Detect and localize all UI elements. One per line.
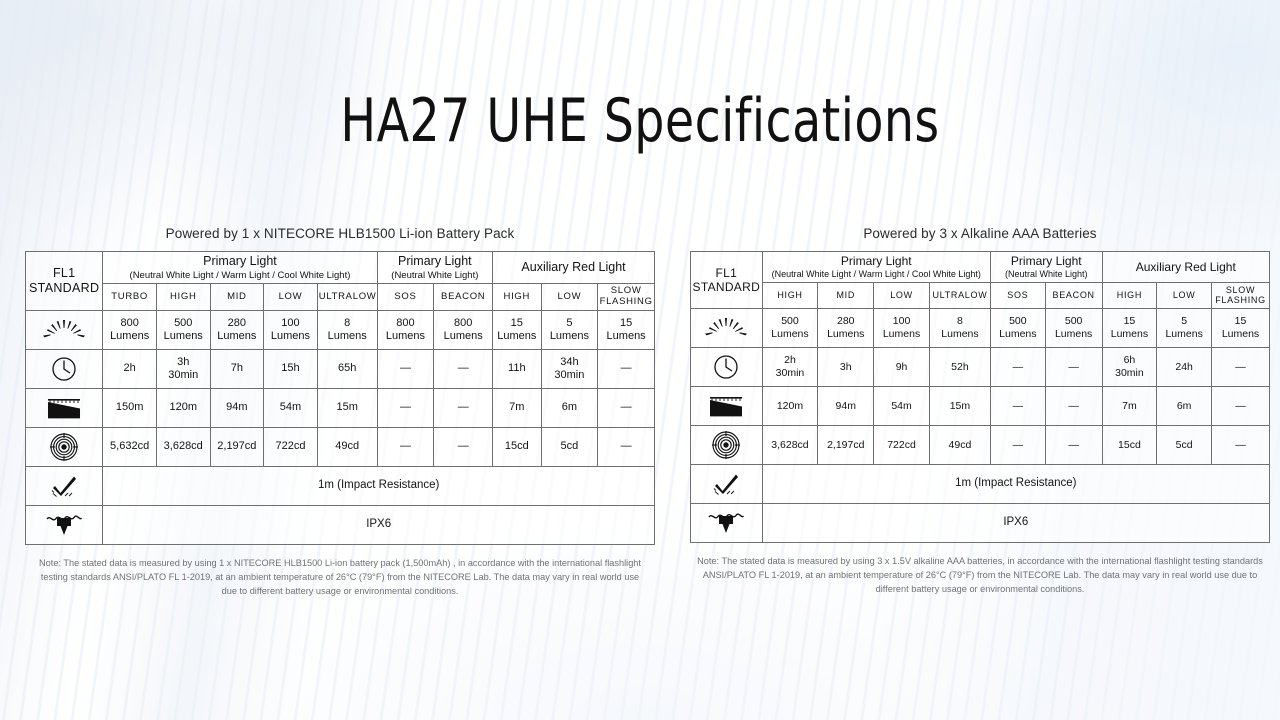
cell-value: — xyxy=(377,388,434,427)
fl1-standard-line2: STANDARD xyxy=(693,280,761,294)
value-text: — xyxy=(621,362,632,374)
cell-value: 5cd xyxy=(541,427,598,466)
table-row-brightness: 500Lumens 280Lumens 100Lumens 8Lumens 50… xyxy=(691,308,1270,347)
table-row-runtime: 2h30min 3h 9h 52h — — 6h30min 24h — xyxy=(691,347,1270,386)
value-text: 49cd xyxy=(335,440,359,452)
value-text: 2,197cd xyxy=(827,439,864,451)
value-text: 49cd xyxy=(949,439,972,451)
cell-value: — xyxy=(1212,347,1270,386)
group-header-aux-red: Auxiliary Red Light xyxy=(1102,252,1269,283)
cell-value: 94m xyxy=(210,388,264,427)
cell-value: 3,628cd xyxy=(156,427,210,466)
table-row-brightness: 800Lumens 500Lumens 280Lumens 100Lumens … xyxy=(26,310,655,349)
cell-value: 54m xyxy=(264,388,318,427)
value-text: 54m xyxy=(280,401,301,413)
cell-value: 94m xyxy=(818,386,874,425)
value-text: 15m xyxy=(336,401,357,413)
cell-value: — xyxy=(1045,347,1102,386)
cell-value: — xyxy=(598,349,655,388)
value-text: 5cd xyxy=(1176,439,1193,451)
value-text: 15Lumens xyxy=(1222,315,1259,339)
value-text: 800Lumens xyxy=(386,317,425,342)
value-text: 800Lumens xyxy=(110,317,149,342)
value-text: 15cd xyxy=(505,440,529,452)
cell-value: 3h30min xyxy=(156,349,210,388)
cell-value: 15cd xyxy=(1102,425,1157,464)
cell-value: — xyxy=(377,349,434,388)
water-resistance-value: IPX6 xyxy=(762,503,1269,542)
cell-value: 15m xyxy=(317,388,377,427)
table-row-impact-resistance: 1m (Impact Resistance) xyxy=(26,466,655,505)
value-text: 24h xyxy=(1175,361,1193,373)
mode-header-low: LOW xyxy=(264,283,318,310)
value-text: 2h30min xyxy=(776,354,805,378)
value-text: 500Lumens xyxy=(1055,315,1092,339)
value-text: 2,197cd xyxy=(217,440,256,452)
cell-value: 722cd xyxy=(874,425,930,464)
cell-value: 3h xyxy=(818,347,874,386)
group-title: Primary Light xyxy=(841,254,912,268)
value-text: 6m xyxy=(1177,400,1192,412)
cell-value: 500Lumens xyxy=(990,308,1045,347)
group-subtitle: (Neutral White Light) xyxy=(379,270,491,281)
cell-value: 100Lumens xyxy=(874,308,930,347)
value-text: 7h xyxy=(231,362,243,374)
cell-value: 15cd xyxy=(493,427,541,466)
value-text: 94m xyxy=(836,400,856,412)
cell-value: 49cd xyxy=(317,427,377,466)
value-text: 3,628cd xyxy=(164,440,203,452)
value-text: — xyxy=(400,440,411,452)
value-text: 150m xyxy=(116,401,144,413)
cell-value: 6h30min xyxy=(1102,347,1157,386)
value-text: 7m xyxy=(1122,400,1137,412)
cell-value: 5cd xyxy=(1157,425,1212,464)
value-text: — xyxy=(1013,439,1024,451)
mode-header-red-high: HIGH xyxy=(493,283,541,310)
mode-header-high: HIGH xyxy=(762,282,818,308)
cell-value: 150m xyxy=(103,388,157,427)
cell-value: 15Lumens xyxy=(1212,308,1270,347)
cell-value: 7m xyxy=(493,388,541,427)
mode-header-slow-flashing: SLOWFLASHING xyxy=(1212,282,1270,308)
value-text: 280Lumens xyxy=(827,315,864,339)
value-text: 100Lumens xyxy=(883,315,920,339)
mode-header-ultralow: ULTRALOW xyxy=(929,282,990,308)
mode-header-red-low: LOW xyxy=(541,283,598,310)
value-text: 65h xyxy=(338,362,356,374)
water-resistance-value: IPX6 xyxy=(103,505,655,544)
cell-value: 722cd xyxy=(264,427,318,466)
table-row-water-resistance: IPX6 xyxy=(691,503,1270,542)
value-text: — xyxy=(400,362,411,374)
value-text: 120m xyxy=(169,401,197,413)
cell-value: 15h xyxy=(264,349,318,388)
cell-value: 280Lumens xyxy=(210,310,264,349)
value-text: — xyxy=(1068,400,1079,412)
runtime-clock-icon xyxy=(691,347,763,386)
value-text: 722cd xyxy=(887,439,916,451)
cell-value: 2h xyxy=(103,349,157,388)
cell-value: 15Lumens xyxy=(493,310,541,349)
cell-value: 7m xyxy=(1102,386,1157,425)
cell-value: 49cd xyxy=(929,425,990,464)
table-header-mode-row: HIGH MID LOW ULTRALOW SOS BEACON HIGH LO… xyxy=(691,282,1270,308)
cell-value: 500Lumens xyxy=(762,308,818,347)
cell-value: 100Lumens xyxy=(264,310,318,349)
cell-value: — xyxy=(1212,386,1270,425)
value-text: 3h30min xyxy=(168,356,198,381)
mode-header-beacon: BEACON xyxy=(1045,282,1102,308)
fl1-standard-header: FL1 STANDARD xyxy=(691,252,763,309)
cell-value: — xyxy=(434,427,493,466)
value-text: 15m xyxy=(950,400,970,412)
value-text: — xyxy=(1068,439,1079,451)
value-text: 6h30min xyxy=(1115,354,1144,378)
group-title: Primary Light xyxy=(1011,254,1082,268)
mode-header-mid: MID xyxy=(210,283,264,310)
value-text: 722cd xyxy=(275,440,305,452)
value-text: 15Lumens xyxy=(1111,315,1148,339)
impact-resistance-icon xyxy=(26,466,103,505)
value-text: 800Lumens xyxy=(444,317,483,342)
cell-value: 500Lumens xyxy=(156,310,210,349)
value-text: 15Lumens xyxy=(607,317,646,342)
value-text: 3h xyxy=(840,361,852,373)
value-text: — xyxy=(621,440,632,452)
mode-header-low: LOW xyxy=(874,282,930,308)
cell-value: 8Lumens xyxy=(929,308,990,347)
peak-beam-intensity-icon xyxy=(26,427,103,466)
fl1-standard-line1: FL1 xyxy=(716,266,738,280)
beam-distance-icon xyxy=(26,388,103,427)
cell-value: 24h xyxy=(1157,347,1212,386)
panel-caption: Powered by 1 x NITECORE HLB1500 Li-ion B… xyxy=(25,226,655,241)
cell-value: — xyxy=(434,349,493,388)
value-text: 500Lumens xyxy=(999,315,1036,339)
value-text: 54m xyxy=(891,400,911,412)
value-text: — xyxy=(458,401,469,413)
mode-header-high: HIGH xyxy=(156,283,210,310)
table-note: Note: The stated data is measured by usi… xyxy=(690,554,1270,597)
peak-beam-intensity-icon xyxy=(691,425,763,464)
value-text: 280Lumens xyxy=(217,317,256,342)
cell-value: 280Lumens xyxy=(818,308,874,347)
fl1-standard-line2: STANDARD xyxy=(29,281,99,295)
group-header-primary-multi: Primary Light (Neutral White Light / War… xyxy=(762,252,990,283)
table-row-water-resistance: IPX6 xyxy=(26,505,655,544)
value-text: 5,632cd xyxy=(110,440,149,452)
cell-value: 3,628cd xyxy=(762,425,818,464)
brightness-icon xyxy=(26,310,103,349)
value-text: 500Lumens xyxy=(164,317,203,342)
cell-value: 2,197cd xyxy=(818,425,874,464)
spec-panel-alkaline: Powered by 3 x Alkaline AAA Batteries FL… xyxy=(690,226,1270,597)
value-text: 2h xyxy=(124,362,136,374)
value-text: — xyxy=(1068,361,1079,373)
spec-panel-li-ion: Powered by 1 x NITECORE HLB1500 Li-ion B… xyxy=(25,226,655,599)
cell-value: — xyxy=(598,427,655,466)
value-text: — xyxy=(621,401,632,413)
brightness-icon xyxy=(691,308,763,347)
group-title: Primary Light xyxy=(398,254,472,268)
cell-value: — xyxy=(990,347,1045,386)
value-text: — xyxy=(1235,400,1246,412)
value-text: 11h xyxy=(508,362,526,374)
water-resistance-icon xyxy=(691,503,763,542)
beam-distance-icon xyxy=(691,386,763,425)
value-text: 5Lumens xyxy=(1165,315,1202,339)
value-text: — xyxy=(1013,361,1024,373)
page-title: HA27 UHE Specifications xyxy=(77,86,1203,156)
cell-value: 54m xyxy=(874,386,930,425)
mode-header-mid: MID xyxy=(818,282,874,308)
water-resistance-icon xyxy=(26,505,103,544)
fl1-standard-header: FL1 STANDARD xyxy=(26,252,103,311)
table-row-peak-beam-intensity: 3,628cd 2,197cd 722cd 49cd — — 15cd 5cd … xyxy=(691,425,1270,464)
value-text: 8Lumens xyxy=(941,315,978,339)
value-text: 34h30min xyxy=(554,356,584,381)
fl1-standard-line1: FL1 xyxy=(53,266,75,280)
mode-header-sos: SOS xyxy=(377,283,434,310)
value-text: 8Lumens xyxy=(328,317,367,342)
runtime-clock-icon xyxy=(26,349,103,388)
value-text: 9h xyxy=(896,361,908,373)
cell-value: — xyxy=(377,427,434,466)
cell-value: 120m xyxy=(762,386,818,425)
table-row-impact-resistance: 1m (Impact Resistance) xyxy=(691,464,1270,503)
spec-table-li-ion: FL1 STANDARD Primary Light (Neutral Whit… xyxy=(25,251,655,545)
cell-value: — xyxy=(990,425,1045,464)
value-text: — xyxy=(1235,439,1246,451)
value-text: — xyxy=(1235,361,1246,373)
specifications-page: HA27 UHE Specifications Powered by 1 x N… xyxy=(0,0,1280,720)
cell-value: 5Lumens xyxy=(541,310,598,349)
group-title: Auxiliary Red Light xyxy=(1136,260,1236,274)
mode-header-beacon: BEACON xyxy=(434,283,493,310)
cell-value: 6m xyxy=(541,388,598,427)
group-header-primary-multi: Primary Light (Neutral White Light / War… xyxy=(103,252,377,284)
mode-header-red-low: LOW xyxy=(1157,282,1212,308)
cell-value: — xyxy=(434,388,493,427)
cell-value: 52h xyxy=(929,347,990,386)
cell-value: 34h30min xyxy=(541,349,598,388)
cell-value: 9h xyxy=(874,347,930,386)
mode-header-ultralow: ULTRALOW xyxy=(317,283,377,310)
cell-value: — xyxy=(1212,425,1270,464)
group-subtitle: (Neutral White Light) xyxy=(992,269,1101,280)
mode-header-sos: SOS xyxy=(990,282,1045,308)
cell-value: 7h xyxy=(210,349,264,388)
value-text: — xyxy=(400,401,411,413)
cell-value: — xyxy=(990,386,1045,425)
cell-value: 800Lumens xyxy=(434,310,493,349)
table-header-mode-row: TURBO HIGH MID LOW ULTRALOW SOS BEACON H… xyxy=(26,283,655,310)
value-text: 6m xyxy=(562,401,577,413)
group-header-primary-nw: Primary Light (Neutral White Light) xyxy=(990,252,1102,283)
group-title: Primary Light xyxy=(203,254,277,268)
group-header-aux-red: Auxiliary Red Light xyxy=(493,252,655,284)
cell-value: 6m xyxy=(1157,386,1212,425)
table-row-peak-beam-intensity: 5,632cd 3,628cd 2,197cd 722cd 49cd — — 1… xyxy=(26,427,655,466)
table-row-beam-distance: 120m 94m 54m 15m — — 7m 6m — xyxy=(691,386,1270,425)
spec-table-alkaline: FL1 STANDARD Primary Light (Neutral Whit… xyxy=(690,251,1270,543)
cell-value: 5,632cd xyxy=(103,427,157,466)
mode-header-red-high: HIGH xyxy=(1102,282,1157,308)
group-header-primary-nw: Primary Light (Neutral White Light) xyxy=(377,252,492,284)
table-row-runtime: 2h 3h30min 7h 15h 65h — — 11h 34h30min — xyxy=(26,349,655,388)
group-title: Auxiliary Red Light xyxy=(521,260,625,274)
cell-value: 15m xyxy=(929,386,990,425)
value-text: 15h xyxy=(281,362,299,374)
table-note: Note: The stated data is measured by usi… xyxy=(25,556,655,599)
table-header-group-row: FL1 STANDARD Primary Light (Neutral Whit… xyxy=(691,252,1270,283)
cell-value: 8Lumens xyxy=(317,310,377,349)
cell-value: 65h xyxy=(317,349,377,388)
cell-value: 2,197cd xyxy=(210,427,264,466)
value-text: — xyxy=(458,440,469,452)
cell-value: — xyxy=(598,388,655,427)
value-text: 15Lumens xyxy=(497,317,536,342)
cell-value: 15Lumens xyxy=(1102,308,1157,347)
cell-value: 800Lumens xyxy=(377,310,434,349)
group-subtitle: (Neutral White Light / Warm Light / Cool… xyxy=(104,270,375,281)
cell-value: 2h30min xyxy=(762,347,818,386)
value-text: 100Lumens xyxy=(271,317,310,342)
value-text: 5Lumens xyxy=(550,317,589,342)
impact-resistance-value: 1m (Impact Resistance) xyxy=(762,464,1269,503)
value-text: 500Lumens xyxy=(771,315,808,339)
cell-value: — xyxy=(1045,425,1102,464)
value-text: 3,628cd xyxy=(771,439,808,451)
table-header-group-row: FL1 STANDARD Primary Light (Neutral Whit… xyxy=(26,252,655,284)
cell-value: 800Lumens xyxy=(103,310,157,349)
cell-value: — xyxy=(1045,386,1102,425)
value-text: 7m xyxy=(509,401,524,413)
value-text: 94m xyxy=(226,401,247,413)
table-row-beam-distance: 150m 120m 94m 54m 15m — — 7m 6m — xyxy=(26,388,655,427)
mode-header-turbo: TURBO xyxy=(103,283,157,310)
group-subtitle: (Neutral White Light / Warm Light / Cool… xyxy=(764,269,989,280)
value-text: — xyxy=(1013,400,1024,412)
cell-value: 11h xyxy=(493,349,541,388)
impact-resistance-icon xyxy=(691,464,763,503)
value-text: 5cd xyxy=(561,440,579,452)
value-text: 120m xyxy=(777,400,803,412)
impact-resistance-value: 1m (Impact Resistance) xyxy=(103,466,655,505)
cell-value: 15Lumens xyxy=(598,310,655,349)
cell-value: 5Lumens xyxy=(1157,308,1212,347)
mode-header-slow-flashing: SLOWFLASHING xyxy=(598,283,655,310)
cell-value: 500Lumens xyxy=(1045,308,1102,347)
value-text: 15cd xyxy=(1118,439,1141,451)
value-text: — xyxy=(458,362,469,374)
panel-caption: Powered by 3 x Alkaline AAA Batteries xyxy=(690,226,1270,241)
cell-value: 120m xyxy=(156,388,210,427)
value-text: 52h xyxy=(951,361,969,373)
